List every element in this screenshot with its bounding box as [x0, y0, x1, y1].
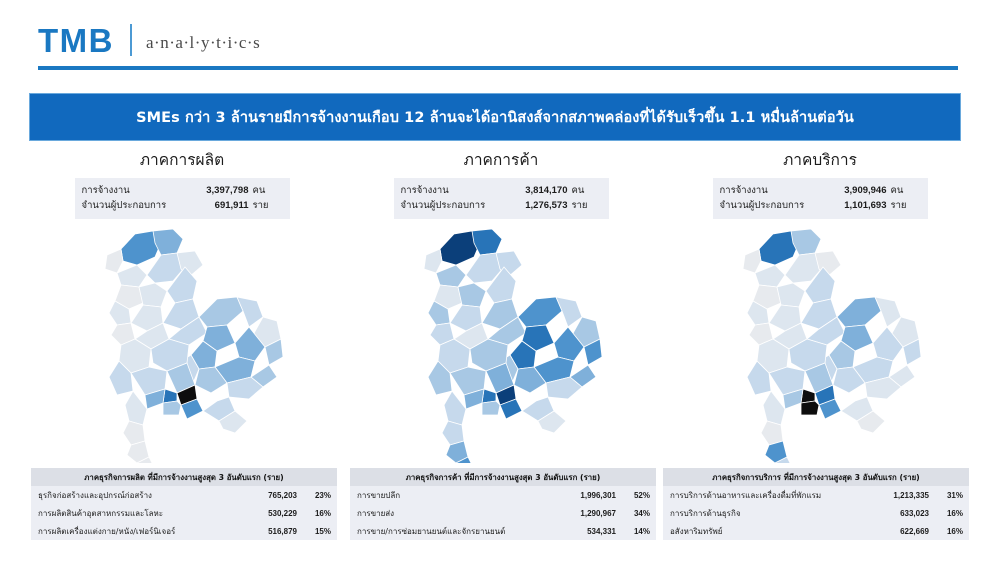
row-label: การผลิตเครื่องแต่งกาย/หนัง/เฟอร์นิเจอร์ — [38, 525, 239, 538]
sector-column-trade: ภาคการค้า การจ้างงาน 3,814,170 คน จำนวนผ… — [341, 150, 661, 463]
table-header: ภาคธุรกิจการบริการ ที่มีการจ้างงานสูงสุด… — [663, 468, 969, 486]
stat-value: 1,101,693 — [828, 198, 891, 213]
map-svg — [77, 225, 287, 463]
row-value: 633,023 — [871, 507, 929, 520]
logo-divider — [130, 24, 132, 56]
stat-row-employment: การจ้างงาน 3,814,170 คน — [401, 183, 602, 198]
sector-title: ภาคการค้า — [341, 150, 661, 170]
logo-analytics-text: a·n·a·l·y·t·i·c·s — [146, 30, 260, 51]
headline-text: SMEs กว่า 3 ล้านรายมีการจ้างงานเกือบ 12 … — [126, 106, 864, 129]
table-row: การบริการด้านอาหารและเครื่องดื่มที่พักแร… — [663, 486, 969, 504]
table-row: การบริการด้านธุรกิจ 633,023 16% — [663, 504, 969, 522]
sector-title: ภาคบริการ — [660, 150, 980, 170]
row-label: การผลิตสินค้าอุตสาหกรรมและโลหะ — [38, 507, 239, 520]
row-value: 1,290,967 — [558, 507, 616, 520]
top-industries-table-manufacturing: ภาคธุรกิจการผลิต ที่มีการจ้างงานสูงสุด 3… — [31, 468, 337, 540]
stat-value: 691,911 — [190, 198, 253, 213]
sector-stat-box: การจ้างงาน 3,397,798 คน จำนวนผู้ประกอบกา… — [75, 178, 290, 219]
sector-title: ภาคการผลิต — [22, 150, 342, 170]
stat-unit: คน — [253, 183, 283, 198]
stat-unit: ราย — [891, 198, 921, 213]
map-svg — [715, 225, 925, 463]
row-label: การบริการด้านอาหารและเครื่องดื่มที่พักแร… — [670, 489, 871, 502]
stat-label: การจ้างงาน — [82, 183, 190, 198]
stat-row-enterprises: จำนวนผู้ประกอบการ 1,276,573 ราย — [401, 198, 602, 213]
header-divider-rule — [38, 66, 958, 70]
tmb-analytics-logo: TMB a·n·a·l·y·t·i·c·s — [38, 22, 260, 58]
row-percent: 15% — [297, 525, 331, 538]
row-value: 622,669 — [871, 525, 929, 538]
stat-row-enterprises: จำนวนผู้ประกอบการ 1,101,693 ราย — [720, 198, 921, 213]
row-percent: 16% — [929, 507, 963, 520]
stat-value: 3,909,946 — [828, 183, 891, 198]
table-row: การขายส่ง 1,290,967 34% — [350, 504, 656, 522]
stat-label: การจ้างงาน — [401, 183, 509, 198]
stat-row-employment: การจ้างงาน 3,909,946 คน — [720, 183, 921, 198]
sector-column-manufacturing: ภาคการผลิต การจ้างงาน 3,397,798 คน จำนวน… — [22, 150, 342, 463]
stat-value: 3,397,798 — [190, 183, 253, 198]
row-label: อสังหาริมทรัพย์ — [670, 525, 871, 538]
row-percent: 16% — [297, 507, 331, 520]
headline-banner: SMEs กว่า 3 ล้านรายมีการจ้างงานเกือบ 12 … — [30, 94, 960, 140]
row-value: 1,213,335 — [871, 489, 929, 502]
row-percent: 14% — [616, 525, 650, 538]
stat-unit: ราย — [572, 198, 602, 213]
row-label: การขายส่ง — [357, 507, 558, 520]
row-label: การขายปลีก — [357, 489, 558, 502]
logo-tmb-text: TMB — [38, 24, 114, 57]
row-percent: 23% — [297, 489, 331, 502]
table-row: การขายปลีก 1,996,301 52% — [350, 486, 656, 504]
stat-row-enterprises: จำนวนผู้ประกอบการ 691,911 ราย — [82, 198, 283, 213]
sector-stat-box: การจ้างงาน 3,814,170 คน จำนวนผู้ประกอบกา… — [394, 178, 609, 219]
stat-label: การจ้างงาน — [720, 183, 828, 198]
row-percent: 52% — [616, 489, 650, 502]
sector-stat-box: การจ้างงาน 3,909,946 คน จำนวนผู้ประกอบกา… — [713, 178, 928, 219]
stat-value: 1,276,573 — [509, 198, 572, 213]
slide-canvas: TMB a·n·a·l·y·t·i·c·s SMEs กว่า 3 ล้านรา… — [0, 0, 1000, 563]
row-percent: 31% — [929, 489, 963, 502]
row-percent: 16% — [929, 525, 963, 538]
map-svg — [396, 225, 606, 463]
table-header: ภาคธุรกิจการผลิต ที่มีการจ้างงานสูงสุด 3… — [31, 468, 337, 486]
table-row: การผลิตเครื่องแต่งกาย/หนัง/เฟอร์นิเจอร์ … — [31, 522, 337, 540]
stat-unit: ราย — [253, 198, 283, 213]
stat-unit: คน — [572, 183, 602, 198]
sector-column-services: ภาคบริการ การจ้างงาน 3,909,946 คน จำนวนผ… — [660, 150, 980, 463]
row-value: 1,996,301 — [558, 489, 616, 502]
thailand-choropleth-map-manufacturing — [22, 225, 342, 463]
table-header: ภาคธุรกิจการค้า ที่มีการจ้างงานสูงสุด 3 … — [350, 468, 656, 486]
table-row: ธุรกิจก่อสร้างและอุปกรณ์ก่อสร้าง 765,203… — [31, 486, 337, 504]
row-value: 516,879 — [239, 525, 297, 538]
stat-unit: คน — [891, 183, 921, 198]
table-row: อสังหาริมทรัพย์ 622,669 16% — [663, 522, 969, 540]
top-industries-table-trade: ภาคธุรกิจการค้า ที่มีการจ้างงานสูงสุด 3 … — [350, 468, 656, 540]
stat-label: จำนวนผู้ประกอบการ — [82, 198, 190, 213]
thailand-choropleth-map-trade — [341, 225, 661, 463]
thailand-choropleth-map-services — [660, 225, 980, 463]
row-label: ธุรกิจก่อสร้างและอุปกรณ์ก่อสร้าง — [38, 489, 239, 502]
row-label: การขาย/การซ่อมยานยนต์และจักรยานยนต์ — [357, 525, 558, 538]
stat-label: จำนวนผู้ประกอบการ — [720, 198, 828, 213]
table-row: การขาย/การซ่อมยานยนต์และจักรยานยนต์ 534,… — [350, 522, 656, 540]
row-value: 530,229 — [239, 507, 297, 520]
row-value: 765,203 — [239, 489, 297, 502]
top-industries-table-services: ภาคธุรกิจการบริการ ที่มีการจ้างงานสูงสุด… — [663, 468, 969, 540]
stat-label: จำนวนผู้ประกอบการ — [401, 198, 509, 213]
page-header: TMB a·n·a·l·y·t·i·c·s — [0, 0, 1000, 78]
stat-value: 3,814,170 — [509, 183, 572, 198]
table-row: การผลิตสินค้าอุตสาหกรรมและโลหะ 530,229 1… — [31, 504, 337, 522]
stat-row-employment: การจ้างงาน 3,397,798 คน — [82, 183, 283, 198]
row-value: 534,331 — [558, 525, 616, 538]
row-label: การบริการด้านธุรกิจ — [670, 507, 871, 520]
row-percent: 34% — [616, 507, 650, 520]
